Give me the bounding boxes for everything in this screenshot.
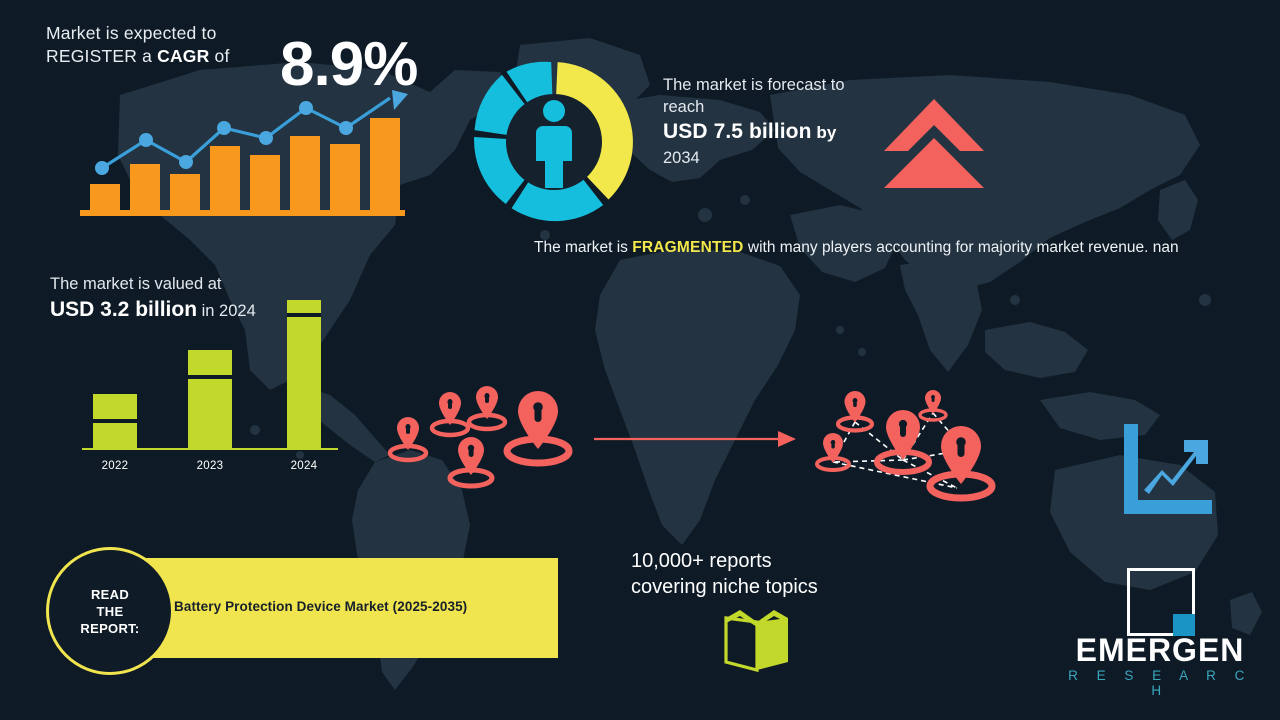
cta-line1: READ bbox=[91, 587, 129, 602]
open-book-icon bbox=[722, 608, 792, 674]
arrow-head bbox=[778, 431, 796, 447]
reports-line1: 10,000+ reports bbox=[631, 548, 931, 574]
map-pin-large bbox=[507, 391, 569, 463]
double-up-chevron-icon bbox=[880, 95, 988, 190]
bar-2023 bbox=[188, 350, 232, 450]
report-banner[interactable]: Battery Protection Device Market (2025-2… bbox=[144, 558, 558, 658]
bar-label-2022: 2022 bbox=[87, 460, 143, 472]
growth-chart-icon bbox=[1118, 422, 1214, 518]
forecast-value-suffix: by bbox=[812, 123, 837, 142]
read-the-report-button[interactable]: READ THE REPORT: bbox=[46, 547, 174, 675]
bar-2022 bbox=[93, 394, 137, 450]
map-pin-small-4 bbox=[450, 437, 492, 486]
network-pin-5 bbox=[930, 426, 992, 498]
map-pin-small-3 bbox=[469, 386, 505, 429]
cta-line2: THE bbox=[97, 604, 124, 619]
map-pin-small-2 bbox=[432, 392, 468, 435]
cagr-keyword: CAGR bbox=[157, 46, 209, 66]
growth-chart-axis bbox=[80, 210, 405, 216]
cagr-line2-prefix: REGISTER a bbox=[46, 46, 157, 66]
infographic-canvas: Market is expected to REGISTER a CAGR of… bbox=[0, 0, 1280, 720]
book-left-page bbox=[726, 618, 757, 670]
bar-label-2024: 2024 bbox=[276, 460, 332, 472]
growth-icon-axes bbox=[1124, 424, 1212, 514]
cagr-text-block: Market is expected to REGISTER a CAGR of… bbox=[46, 22, 446, 68]
bar-2024 bbox=[287, 300, 321, 450]
book-right-page bbox=[757, 618, 788, 670]
emergen-research-logo: EMERGEN R E S E A R C H bbox=[1060, 568, 1260, 698]
bar-2024-divider bbox=[287, 313, 321, 317]
bar-label-2023: 2023 bbox=[182, 460, 238, 472]
logo-subtitle: R E S E A R C H bbox=[1060, 668, 1260, 698]
map-pin-small-1 bbox=[390, 417, 426, 460]
forecast-line1: The market is forecast to bbox=[663, 74, 923, 96]
growth-bar-line-chart bbox=[72, 80, 417, 225]
valued-line1: The market is valued at bbox=[50, 273, 350, 295]
reports-count-text-block: 10,000+ reports covering niche topics bbox=[631, 548, 931, 600]
report-title: Battery Protection Device Market (2025-2… bbox=[174, 599, 544, 614]
fragmented-suffix: with many players accounting for majorit… bbox=[744, 239, 1179, 256]
logo-name: EMERGEN bbox=[1060, 632, 1260, 668]
bar-2023-divider bbox=[188, 375, 232, 379]
forecast-value: USD 7.5 billion bbox=[663, 120, 812, 143]
fragmented-prefix: The market is bbox=[534, 239, 632, 256]
map-pin-cluster-icon bbox=[380, 385, 580, 500]
reports-line2: covering niche topics bbox=[631, 574, 931, 600]
read-the-report-label: READ THE REPORT: bbox=[80, 586, 139, 637]
network-pin-4 bbox=[877, 410, 929, 472]
connected-map-pin-network-icon bbox=[805, 388, 1015, 506]
fragmented-highlight: FRAGMENTED bbox=[632, 239, 743, 256]
cta-line3: REPORT: bbox=[80, 621, 139, 636]
market-value-bar-chart: 2022 2023 2024 bbox=[78, 296, 338, 476]
network-pin-3 bbox=[920, 390, 946, 420]
cagr-line2-suffix: of bbox=[209, 46, 229, 66]
growth-icon-arrow bbox=[1144, 440, 1208, 494]
growth-trend-arrow-head bbox=[392, 90, 408, 110]
market-share-donut-chart bbox=[466, 54, 642, 230]
bar-2022-divider bbox=[93, 419, 137, 423]
fragmented-text-block: The market is FRAGMENTED with many playe… bbox=[534, 236, 1214, 259]
right-arrow-icon bbox=[592, 428, 800, 450]
network-pin-1 bbox=[838, 391, 872, 431]
logo-square-icon bbox=[1127, 568, 1195, 636]
